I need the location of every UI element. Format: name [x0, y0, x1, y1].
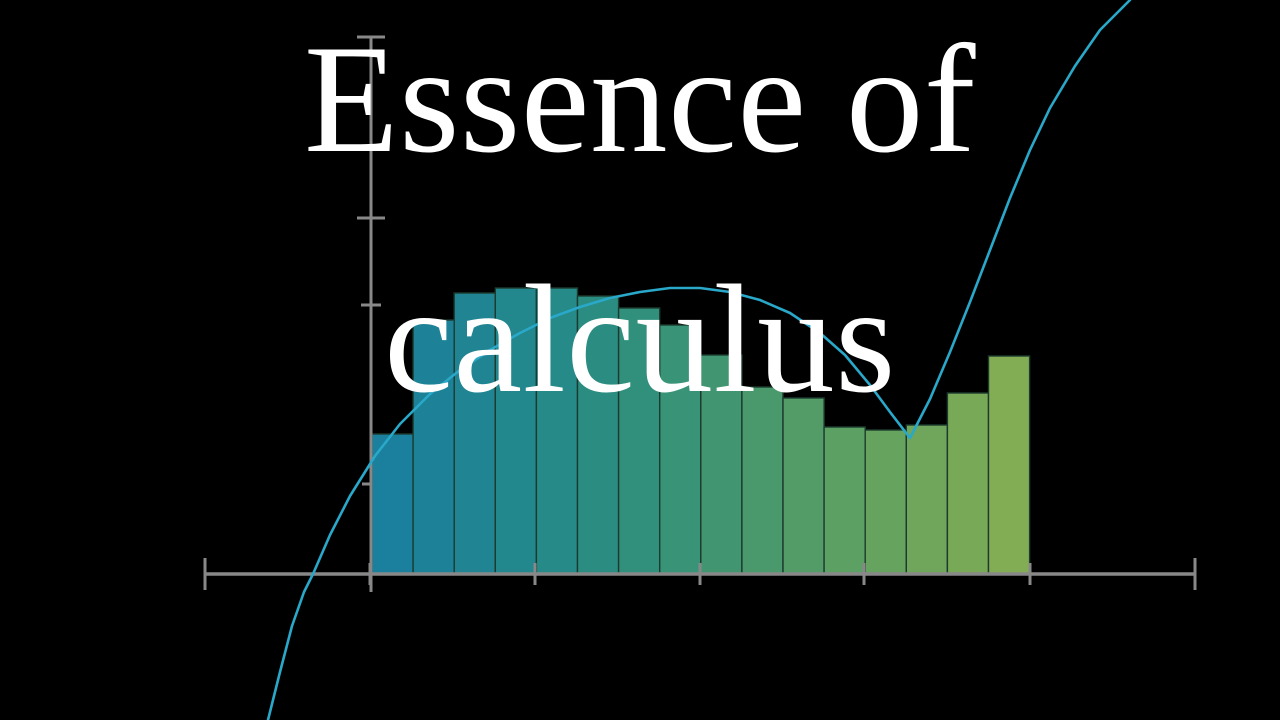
bar-series — [372, 288, 1030, 574]
bar-9 — [701, 355, 742, 574]
bar-11 — [783, 398, 824, 574]
bar-15 — [947, 393, 988, 574]
bar-7 — [619, 308, 660, 574]
bar-1 — [372, 434, 413, 574]
bar-8 — [660, 325, 701, 574]
bar-14 — [906, 425, 947, 574]
bar-13 — [865, 430, 906, 574]
calculus-plot — [0, 0, 1280, 720]
bar-12 — [824, 427, 865, 574]
bar-2 — [413, 320, 454, 574]
bar-3 — [454, 293, 495, 574]
bar-6 — [578, 296, 619, 574]
bar-4 — [495, 288, 536, 574]
bar-16 — [989, 356, 1030, 574]
bar-5 — [536, 288, 577, 574]
video-thumbnail-canvas: Essence of calculus — [0, 0, 1280, 720]
bar-10 — [742, 387, 783, 574]
